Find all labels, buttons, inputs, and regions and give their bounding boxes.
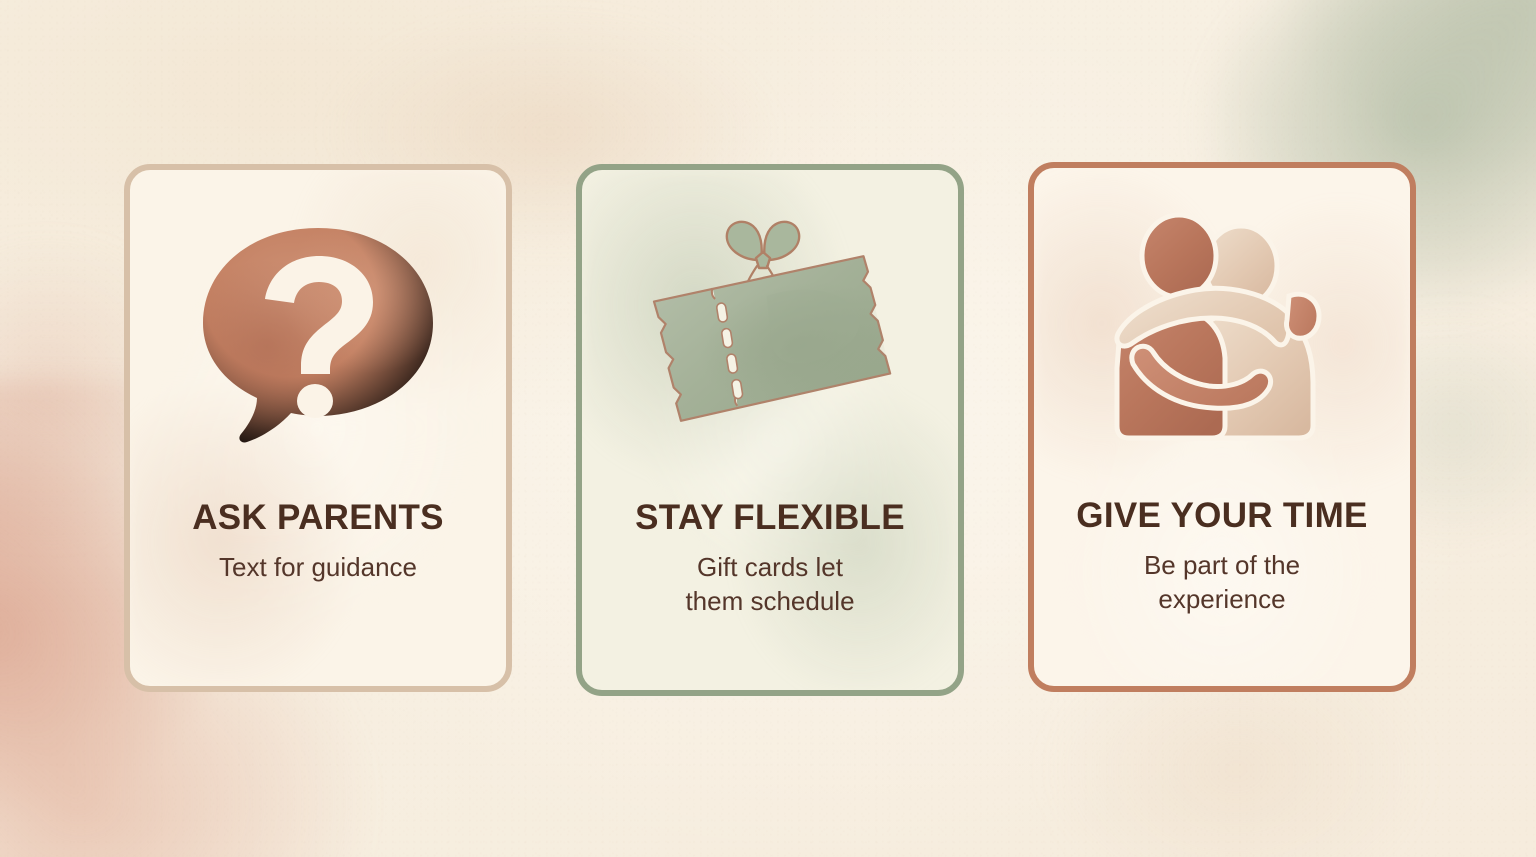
dark-figure-head xyxy=(1142,215,1216,297)
card-subtitle-line: Gift cards let xyxy=(600,551,940,585)
card-give-your-time[interactable]: GIVE YOUR TIME Be part of the experience xyxy=(1028,162,1416,692)
gift-ticket-bow-icon xyxy=(625,210,915,460)
card-title: STAY FLEXIBLE xyxy=(600,500,940,537)
two-people-hugging-icon xyxy=(1091,208,1353,458)
gift-ticket-bow-icon-wrap xyxy=(582,170,958,500)
card-ask-parents[interactable]: ASK PARENTS Text for guidance xyxy=(124,164,512,692)
card-subtitle: Gift cards let them schedule xyxy=(600,551,940,619)
speech-bubble-question-icon xyxy=(193,220,443,450)
card-title: GIVE YOUR TIME xyxy=(1052,498,1392,535)
card-text-block: ASK PARENTS Text for guidance xyxy=(130,500,506,585)
card-title: ASK PARENTS xyxy=(148,500,488,537)
infographic-canvas: ASK PARENTS Text for guidance xyxy=(0,0,1536,857)
card-subtitle-line: Be part of the xyxy=(1052,549,1392,583)
card-stay-flexible[interactable]: STAY FLEXIBLE Gift cards let them schedu… xyxy=(576,164,964,696)
card-subtitle-line: experience xyxy=(1052,583,1392,617)
speech-bubble-question-icon-wrap xyxy=(130,170,506,500)
hand-on-shoulder xyxy=(1286,294,1319,338)
card-subtitle-line: them schedule xyxy=(600,585,940,619)
card-text-block: GIVE YOUR TIME Be part of the experience xyxy=(1034,498,1410,616)
card-subtitle: Be part of the experience xyxy=(1052,549,1392,617)
two-people-hugging-icon-wrap xyxy=(1034,168,1410,498)
card-subtitle: Text for guidance xyxy=(148,551,488,585)
card-text-block: STAY FLEXIBLE Gift cards let them schedu… xyxy=(582,500,958,618)
